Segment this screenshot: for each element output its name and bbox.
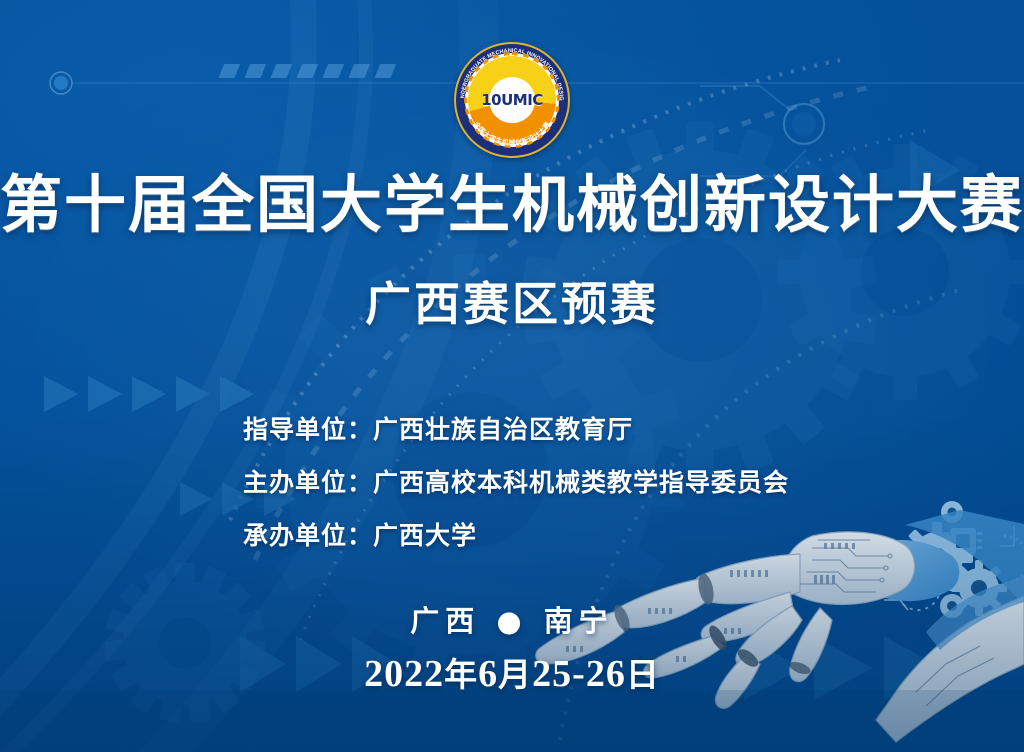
svg-text:全国大学生机械创新设计大赛: 全国大学生机械创新设计大赛 (472, 119, 552, 147)
svg-text:THE NATIONAL UNDERGRADUATE MEC: THE NATIONAL UNDERGRADUATE MECHANICAL IN… (454, 42, 564, 101)
poster-canvas: 10UMIC THE NATIONAL UNDERGRADUATE MECHAN… (0, 0, 1024, 752)
date-month: 6 (478, 653, 498, 695)
organizer-list: 指导单位：广西壮族自治区教育厅 主办单位：广西高校本科机械类教学指导委员会 承办… (243, 410, 863, 569)
venue-text: 广西 ● 南宁 (0, 598, 1024, 640)
date-day-unit: 日 (626, 655, 660, 694)
poster-content: 10UMIC THE NATIONAL UNDERGRADUATE MECHAN… (0, 0, 1024, 752)
date-days: 25-26 (532, 653, 626, 695)
page-title: 第十届全国大学生机械创新设计大赛 (0, 172, 1024, 239)
logo-english-text: THE NATIONAL UNDERGRADUATE MECHANICAL IN… (454, 42, 564, 101)
logo-chinese-text: 全国大学生机械创新设计大赛 (472, 119, 552, 147)
organizer-line-host: 主办单位：广西高校本科机械类教学指导委员会 (243, 463, 863, 499)
date-year-unit: 年 (444, 655, 478, 694)
date-month-unit: 月 (498, 655, 532, 694)
date-text: 2022年6月25-26日 (0, 648, 1024, 696)
organizer-line-guidance: 指导单位：广西壮族自治区教育厅 (243, 410, 863, 446)
logo-arc-text: THE NATIONAL UNDERGRADUATE MECHANICAL IN… (454, 42, 570, 158)
organizer-line-organizer: 承办单位：广西大学 (243, 516, 863, 552)
date-year: 2022 (364, 653, 444, 695)
page-subtitle: 广西赛区预赛 (0, 268, 1024, 334)
competition-logo: 10UMIC THE NATIONAL UNDERGRADUATE MECHAN… (454, 42, 570, 158)
